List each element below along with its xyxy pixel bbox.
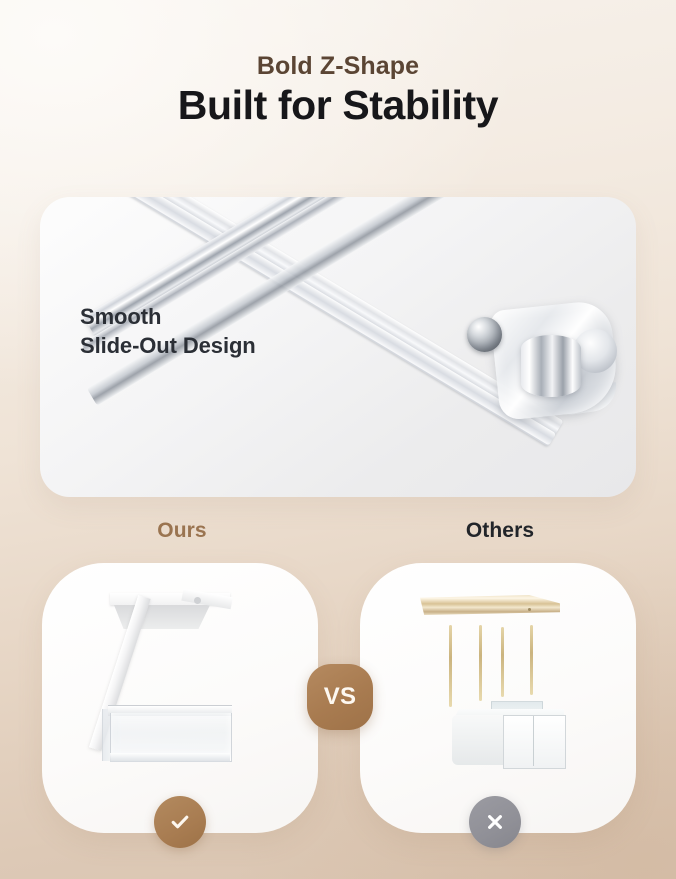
comparison-label-others: Others [430,519,570,543]
comparison-label-ours: Ours [112,519,252,543]
gold-support-rod [530,625,533,695]
z-shape-bracket-illustration [42,563,318,833]
drawer-body-right [503,715,566,769]
drawer-bottom-edge [110,753,230,762]
check-icon [167,809,193,835]
verdict-badge-ours [154,796,206,848]
hero-caption: Smooth Slide-Out Design [80,302,256,361]
page-title: Built for Stability [0,82,676,129]
headline-eyebrow: Bold Z-Shape [0,52,676,80]
verdict-badge-others [469,796,521,848]
drawer-body-left [452,715,504,765]
cylindrical-roller [521,335,581,397]
comparison-card-others [360,563,636,833]
ball-bearing [467,317,502,352]
headline-block: Bold Z-Shape Built for Stability [0,52,676,129]
gold-shelf-panel [420,595,560,615]
hero-feature-card: Smooth Slide-Out Design [40,197,636,497]
brace-pivot-screw [194,597,201,604]
cross-icon [482,809,508,835]
comparison-card-ours [42,563,318,833]
gold-support-rod [449,625,452,707]
gold-shelf-screw [528,608,531,611]
gold-support-rod [501,627,504,697]
gold-support-rod [479,625,482,701]
drawer-divider [533,716,534,766]
gold-rod-drawer-illustration [360,563,636,833]
marketing-poster: Bold Z-Shape Built for Stability Smooth … [0,0,676,879]
versus-badge: VS [307,664,373,730]
